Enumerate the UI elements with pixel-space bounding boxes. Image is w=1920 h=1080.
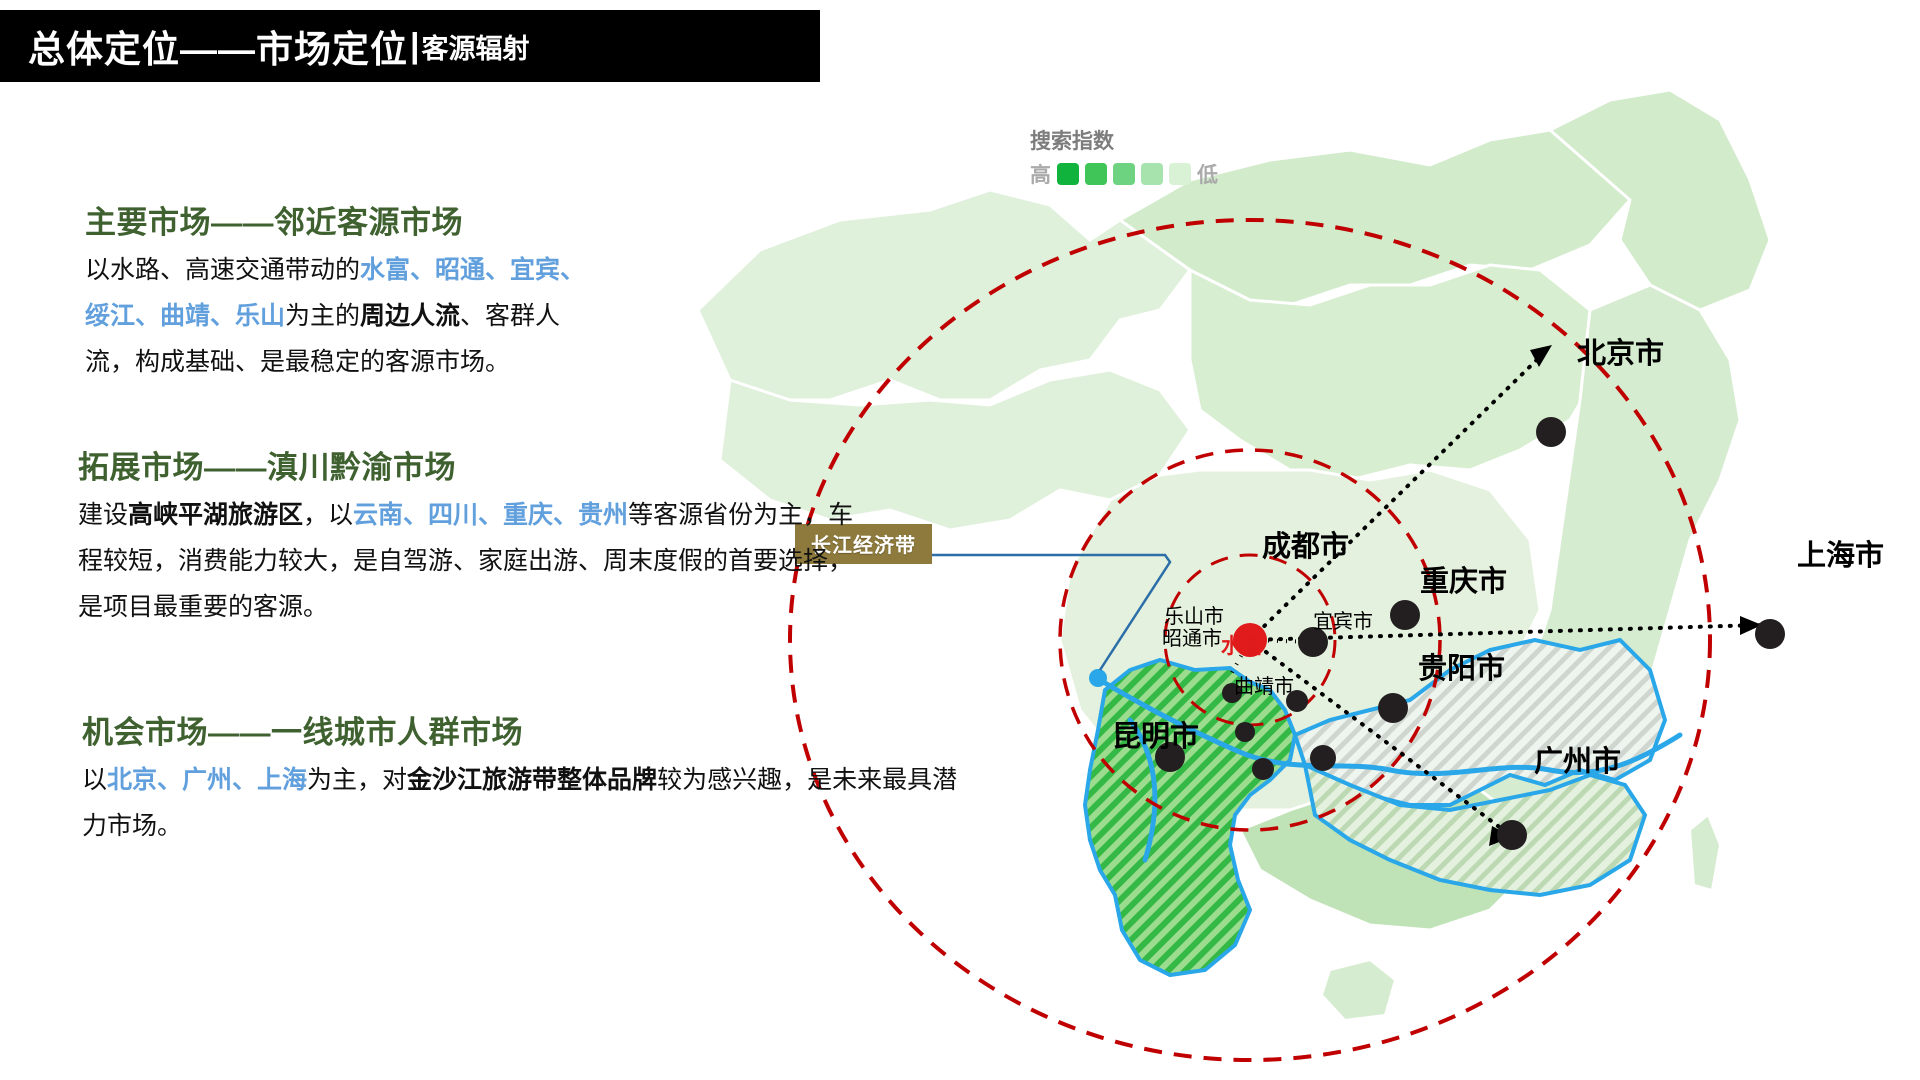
city-label-guiyang: 贵阳市 (1418, 645, 1505, 687)
city-label-beijing: 北京市 (1577, 330, 1664, 372)
text-run-plain: 以水路、高速交通带动的 (85, 256, 360, 284)
search-index-legend: 搜索指数 高 低 (1030, 125, 1218, 189)
market-block-expansion-body: 建设高峡平湖旅游区，以云南、四川、重庆、贵州等客源省份为主，车程较短，消费能力较… (78, 492, 858, 631)
city-label-guangzhou: 广州市 (1534, 738, 1621, 780)
legend-swatch-3 (1113, 163, 1135, 185)
city-dot-beijing (1536, 417, 1566, 447)
market-block-opportunity-body: 以北京、广州、上海为主，对金沙江旅游带整体品牌较为感兴趣，是未来最具潜力市场。 (82, 757, 962, 850)
city-dot-chongqing (1390, 600, 1420, 630)
text-run-blue: 北京、广州、上海 (107, 766, 307, 794)
river-source-dot (1089, 669, 1107, 687)
text-run-plain: ，以 (303, 501, 353, 529)
legend-swatch-4 (1141, 163, 1163, 185)
text-run-plain: 为主的 (285, 302, 360, 330)
city-dot-guangzhou (1497, 820, 1527, 850)
text-run-bold: 金沙江旅游带整体品牌 (407, 766, 657, 794)
title-separator: | (410, 27, 420, 66)
market-block-opportunity: 机会市场——一线城市人群市场 以北京、广州、上海为主，对金沙江旅游带整体品牌较为… (82, 710, 962, 849)
text-run-blue: 云南、四川、重庆、贵州 (353, 501, 628, 529)
city-label-yibin: 宜宾市 (1313, 605, 1373, 634)
legend-swatch-1 (1057, 163, 1079, 185)
legend-title: 搜索指数 (1030, 125, 1218, 155)
market-block-primary-heading: 主要市场——邻近客源市场 (85, 200, 605, 247)
legend-high-label: 高 (1030, 159, 1051, 189)
city-label-qujing: 曲靖市 (1234, 670, 1294, 699)
market-block-expansion: 拓展市场——滇川黔渝市场 建设高峡平湖旅游区，以云南、四川、重庆、贵州等客源省份… (78, 445, 868, 630)
city-label-zhaotong: 昭通市 (1162, 622, 1222, 651)
city-dot-guiyang (1378, 693, 1408, 723)
text-run-plain: 建设 (78, 501, 128, 529)
page-title: 总体定位——市场定位 (28, 19, 408, 73)
china-map (690, 70, 1920, 1080)
page-subtitle: 客源辐射 (422, 27, 530, 66)
legend-scale: 高 低 (1030, 159, 1218, 189)
market-block-opportunity-heading: 机会市场——一线城市人群市场 (82, 710, 962, 757)
legend-swatch-5 (1169, 163, 1191, 185)
legend-swatch-2 (1085, 163, 1107, 185)
city-dot-zhaotong (1235, 722, 1255, 742)
city-dot-extra-se (1310, 745, 1336, 771)
city-label-chongqing: 重庆市 (1420, 558, 1507, 600)
text-run-bold: 高峡平湖旅游区 (128, 501, 303, 529)
market-block-expansion-heading: 拓展市场——滇川黔渝市场 (78, 445, 868, 492)
city-dot-shanghai (1755, 619, 1785, 649)
city-label-shanghai: 上海市 (1797, 532, 1884, 574)
legend-low-label: 低 (1197, 159, 1218, 189)
text-run-plain: 为主，对 (307, 766, 407, 794)
city-label-chengdu: 成都市 (1262, 523, 1349, 565)
city-dot-qujing (1252, 758, 1274, 780)
text-run-plain: 以 (82, 766, 107, 794)
market-block-primary: 主要市场——邻近客源市场 以水路、高速交通带动的水富、昭通、宜宾、绥江、曲靖、乐… (85, 200, 605, 385)
text-run-bold: 周边人流 (360, 302, 460, 330)
city-label-kunming: 昆明市 (1112, 713, 1199, 755)
city-label-shuifu: 水富 (1221, 630, 1263, 660)
market-block-primary-body: 以水路、高速交通带动的水富、昭通、宜宾、绥江、曲靖、乐山为主的周边人流、客群人流… (85, 247, 590, 386)
